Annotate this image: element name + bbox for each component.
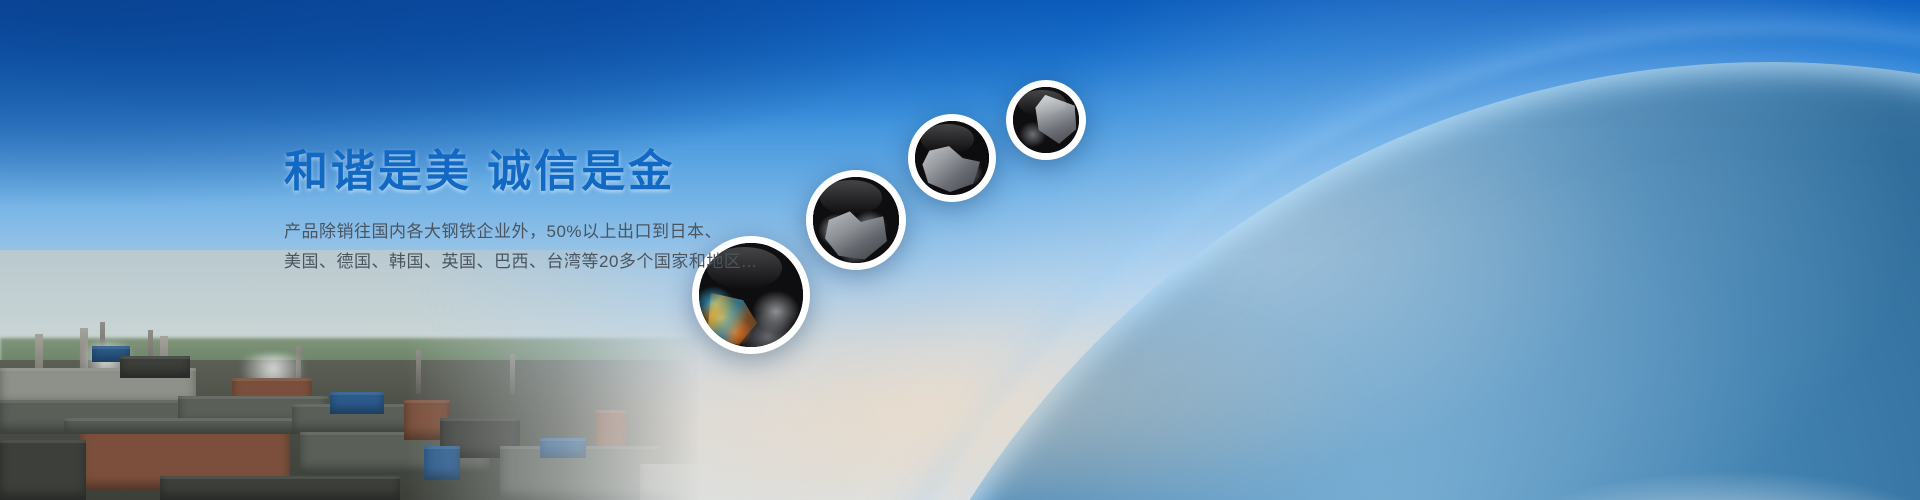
banner-subtitle-line-1: 产品除销往国内各大钢铁企业外，50%以上出口到日本、 (284, 217, 757, 247)
banner-headline: 和谐是美 诚信是金 (284, 146, 757, 199)
plant-building (64, 418, 306, 434)
plant-building (0, 440, 86, 500)
plant-building (540, 438, 586, 458)
promo-banner: 和谐是美 诚信是金 产品除销往国内各大钢铁企业外，50%以上出口到日本、 美国、… (0, 0, 1920, 500)
plant-building (424, 446, 460, 480)
steel-plant-photo (0, 250, 700, 500)
ore-image (915, 121, 989, 195)
chimney (510, 354, 515, 394)
banner-copy: 和谐是美 诚信是金 产品除销往国内各大钢铁企业外，50%以上出口到日本、 美国、… (284, 146, 757, 277)
ore-image (813, 177, 899, 263)
ore-photo-inner (915, 121, 989, 195)
ore-photo-dark[interactable] (1006, 80, 1086, 160)
ore-image (1013, 87, 1079, 153)
plant-building (640, 464, 700, 500)
ore-photo-angular[interactable] (908, 114, 996, 202)
plant-building (120, 356, 190, 378)
banner-subtitle-line-2: 美国、德国、韩国、英国、巴西、台湾等20多个国家和地区... (284, 247, 757, 277)
chimney (416, 350, 421, 394)
plant-building (160, 476, 400, 500)
ore-photo-crushed[interactable] (806, 170, 906, 270)
plant-building (330, 392, 384, 414)
ore-photo-inner (813, 177, 899, 263)
banner-subtitle: 产品除销往国内各大钢铁企业外，50%以上出口到日本、 美国、德国、韩国、英国、巴… (284, 217, 757, 277)
ore-photo-inner (1013, 87, 1079, 153)
